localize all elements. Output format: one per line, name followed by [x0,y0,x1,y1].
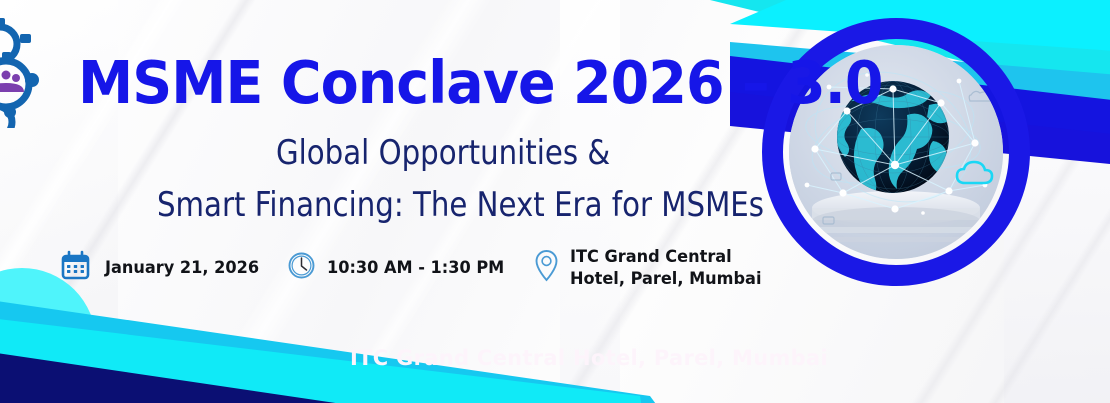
subtitle-line-2: Smart Financing: The Next Era for MSMEs [157,185,764,225]
clock-icon [287,251,316,285]
detail-time: 10:30 AM - 1:30 PM [287,251,514,285]
detail-date-text: January 21, 2026 [105,257,259,279]
event-details-row: January 21, 2026 10:30 AM - 1:30 PM [60,246,771,290]
msme-gear-people-logo [0,18,62,128]
page-title: MSME Conclave 2026 – 3.0 [78,48,883,117]
venue-watermark: ITC Grand Central Hotel, Parel, Mumbai [350,346,828,370]
event-banner: MSME Conclave 2026 – 3.0 Global Opportun… [0,0,1110,403]
logo-artwork [0,18,62,128]
people-glyph [0,71,24,93]
detail-venue-line-2: Hotel, Parel, Mumbai [570,268,761,290]
subtitle-line-1: Global Opportunities & [276,133,610,173]
detail-venue-line-1: ITC Grand Central [570,246,761,268]
location-pin-icon [532,248,561,289]
detail-date: January 21, 2026 [60,250,267,286]
calendar-icon [60,250,91,286]
detail-time-text: 10:30 AM - 1:30 PM [327,257,504,279]
detail-venue: ITC Grand Central Hotel, Parel, Mumbai [532,246,772,290]
